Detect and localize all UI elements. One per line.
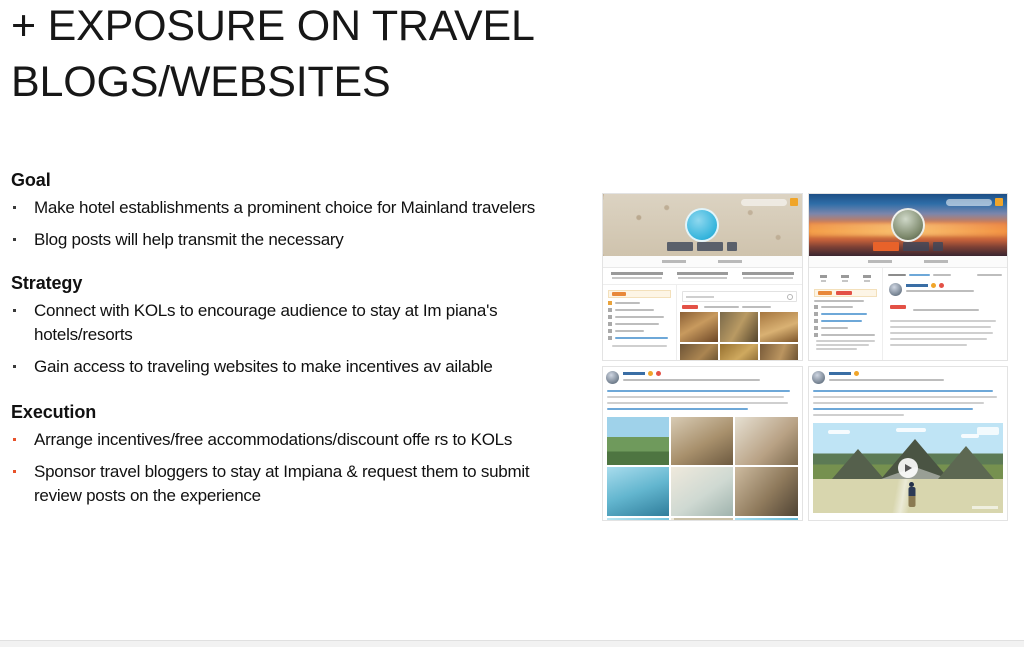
post-text: [809, 390, 1008, 423]
verified-icon: [648, 371, 653, 376]
photo-thumb[interactable]: [607, 467, 669, 515]
bullet-text: Connect with KOLs to encourage audience …: [34, 301, 497, 344]
photo-thumb[interactable]: [720, 344, 758, 361]
info-icon: [608, 315, 612, 319]
content-column: Goal Make hotel establishments a promine…: [0, 168, 560, 508]
bullet-list-strategy: Connect with KOLs to encourage audience …: [0, 299, 560, 379]
user-icon: [814, 326, 818, 330]
profile-action-buttons: [667, 242, 737, 251]
video-thumbnail: [813, 423, 1004, 513]
filter-chip: [682, 305, 698, 309]
profile-stats: [812, 271, 879, 287]
vip-icon: [656, 371, 661, 376]
section-heading-goal: Goal: [11, 168, 560, 192]
photo-thumb[interactable]: [671, 417, 733, 465]
verified-icon: [931, 283, 936, 288]
sidebar-highlight: [608, 290, 671, 298]
post-timestamp: [906, 290, 974, 292]
follow-button[interactable]: [667, 242, 693, 251]
photo-thumb[interactable]: [671, 518, 733, 521]
food-photo-grid: [680, 312, 798, 361]
avatar: [891, 208, 925, 242]
tab-profile[interactable]: [924, 260, 948, 263]
weibo-screenshots-collage: [602, 193, 1008, 521]
photo-thumb[interactable]: [735, 518, 797, 521]
stat-following: [607, 271, 667, 281]
post-text: [886, 298, 1004, 361]
sidebar-highlight: [814, 289, 877, 297]
profile-nav-tabs: [809, 256, 1008, 268]
title-line-2: BLOGS/WEBSITES: [11, 54, 571, 110]
post-author: [829, 371, 1005, 376]
bullet-text: Sponsor travel bloggers to stay at Impia…: [34, 462, 529, 505]
tab-home[interactable]: [868, 260, 892, 263]
banner-pill: [946, 199, 992, 206]
post-meta: [829, 371, 1005, 381]
profile-sidebar: [809, 268, 882, 361]
post-timestamp: [829, 379, 945, 381]
post-header: [603, 367, 802, 386]
slide-bottom-strip: [0, 640, 1024, 647]
avatar[interactable]: [606, 371, 619, 384]
weibo-post-mountain-video: [808, 366, 1009, 521]
profile-nav-tabs: [603, 256, 802, 268]
note-icon: [814, 333, 818, 337]
star-icon: [814, 312, 818, 316]
sidebar-item[interactable]: [608, 336, 671, 340]
section-heading-execution: Execution: [11, 400, 560, 424]
banner-badge-icon: [995, 198, 1003, 206]
bullet-dot-icon: [13, 365, 16, 368]
photo-thumb[interactable]: [735, 467, 797, 515]
follow-button[interactable]: [873, 242, 899, 251]
photo-thumb[interactable]: [680, 312, 718, 342]
profile-action-buttons: [873, 242, 943, 251]
profile-body: [603, 285, 802, 361]
avatar[interactable]: [889, 283, 902, 296]
tag-icon: [608, 301, 612, 305]
section-execution: Execution Arrange incentives/free accomm…: [0, 400, 560, 508]
photo-thumb[interactable]: [671, 467, 733, 515]
section-strategy: Strategy Connect with KOLs to encourage …: [0, 271, 560, 379]
post-timestamp: [623, 379, 760, 381]
post-meta: [623, 371, 799, 381]
stat-followers: [837, 274, 853, 284]
highlight-chip-red: [836, 291, 852, 295]
profile-sidebar: [603, 285, 676, 361]
sidebar-item[interactable]: [814, 326, 877, 330]
collage-row-top: [602, 193, 1008, 361]
hiker-figure: [908, 487, 915, 507]
slide-canvas: + EXPOSURE ON TRAVEL BLOGS/WEBSITES Goal…: [0, 0, 1024, 647]
profile-feed: [676, 285, 801, 361]
calendar-icon: [608, 322, 612, 326]
banner-pill: [741, 199, 787, 206]
post-header: [809, 367, 1008, 386]
section-goal: Goal Make hotel establishments a promine…: [0, 168, 560, 252]
weibo-profile-sunset: [808, 193, 1009, 361]
stat-posts: [859, 274, 875, 284]
avatar: [685, 208, 719, 242]
bullet-text: Arrange incentives/free accommodations/d…: [34, 430, 512, 449]
message-button[interactable]: [697, 242, 723, 251]
photo-thumb[interactable]: [760, 344, 798, 361]
bullet-text: Blog posts will help transmit the necess…: [34, 230, 344, 249]
photo-thumb[interactable]: [735, 417, 797, 465]
profile-stats: [603, 268, 802, 285]
photo-thumb[interactable]: [720, 312, 758, 342]
post-author: [623, 371, 799, 376]
sidebar-item[interactable]: [608, 329, 671, 333]
sidebar-item: [814, 333, 877, 337]
banner-corner-controls: [946, 198, 1003, 206]
mountain-peak: [832, 449, 884, 479]
post-text: [603, 390, 802, 417]
sidebar-item[interactable]: [814, 300, 877, 302]
cloud-icon: [828, 430, 850, 434]
tag-icon: [814, 305, 818, 309]
photo-thumb[interactable]: [607, 417, 669, 465]
search-input[interactable]: [682, 291, 796, 302]
avatar[interactable]: [812, 371, 825, 384]
cloud-icon: [961, 434, 979, 438]
bullet-text: Make hotel establishments a prominent ch…: [34, 198, 535, 217]
vip-icon: [939, 283, 944, 288]
video-watermark: [972, 506, 998, 509]
tab-home[interactable]: [662, 260, 686, 263]
list-item: Blog posts will help transmit the necess…: [0, 228, 554, 252]
sidebar-item[interactable]: [814, 319, 877, 323]
bullet-list-goal: Make hotel establishments a prominent ch…: [0, 196, 560, 252]
tab-profile[interactable]: [718, 260, 742, 263]
list-item: Sponsor travel bloggers to stay at Impia…: [0, 460, 554, 508]
bullet-dot-icon: [13, 438, 16, 441]
weibo-post-hotel-photo-grid: [602, 366, 803, 521]
building-icon: [814, 319, 818, 323]
post-meta: [906, 283, 1001, 292]
post-header: [886, 279, 1004, 298]
globe-icon: [608, 336, 612, 340]
more-button[interactable]: [727, 242, 737, 251]
weibo-profile-food-blogger: [602, 193, 803, 361]
banner-corner-controls: [741, 198, 798, 206]
sidebar-item[interactable]: [608, 315, 671, 319]
location-icon: [608, 308, 612, 312]
more-button[interactable]: [933, 242, 943, 251]
mountain-peak: [938, 446, 994, 479]
section-heading-strategy: Strategy: [11, 271, 560, 295]
stat-following: [816, 274, 832, 284]
bullet-text: Gain access to traveling websites to mak…: [34, 357, 493, 376]
bullet-list-execution: Arrange incentives/free accommodations/d…: [0, 428, 560, 508]
message-button[interactable]: [903, 242, 929, 251]
bullet-dot-icon: [13, 206, 16, 209]
highlight-chip: [818, 291, 832, 295]
photo-thumb[interactable]: [680, 344, 718, 361]
sidebar-item[interactable]: [608, 301, 671, 305]
list-item: Arrange incentives/free accommodations/d…: [0, 428, 554, 452]
cloud-icon: [896, 428, 926, 432]
banner-badge-icon: [790, 198, 798, 206]
stat-posts: [738, 271, 798, 281]
photo-thumb[interactable]: [607, 518, 669, 521]
bullet-dot-icon: [13, 470, 16, 473]
post-photo-grid: [607, 417, 798, 521]
link-icon: [608, 329, 612, 333]
play-icon[interactable]: [898, 458, 918, 478]
list-item: Gain access to traveling websites to mak…: [0, 355, 554, 379]
profile-banner-beige: [603, 194, 802, 256]
list-item: Connect with KOLs to encourage audience …: [0, 299, 554, 347]
profile-banner-sunset: [809, 194, 1008, 256]
hashtag-chip[interactable]: [890, 305, 906, 309]
post-video[interactable]: [813, 423, 1004, 513]
highlight-chip: [612, 292, 626, 296]
bullet-dot-icon: [13, 309, 16, 312]
feed-tabs[interactable]: [888, 274, 1002, 276]
photo-thumb[interactable]: [760, 312, 798, 342]
sidebar-item[interactable]: [608, 322, 671, 326]
profile-feed: [882, 268, 1007, 361]
feed-filter-row[interactable]: [682, 305, 796, 309]
post-author: [906, 283, 1001, 288]
list-item: Make hotel establishments a prominent ch…: [0, 196, 554, 220]
verified-icon: [854, 371, 859, 376]
bullet-dot-icon: [13, 238, 16, 241]
sidebar-item[interactable]: [814, 312, 877, 316]
search-icon: [787, 294, 793, 300]
sidebar-item[interactable]: [814, 305, 877, 309]
search-placeholder: [686, 296, 714, 298]
video-badge: [977, 427, 999, 435]
profile-body: [809, 268, 1008, 361]
stat-followers: [673, 271, 733, 281]
title-line-1: + EXPOSURE ON TRAVEL: [11, 0, 571, 54]
collage-row-bottom: [602, 366, 1008, 521]
page-title: + EXPOSURE ON TRAVEL BLOGS/WEBSITES: [11, 0, 571, 110]
sidebar-item[interactable]: [608, 308, 671, 312]
